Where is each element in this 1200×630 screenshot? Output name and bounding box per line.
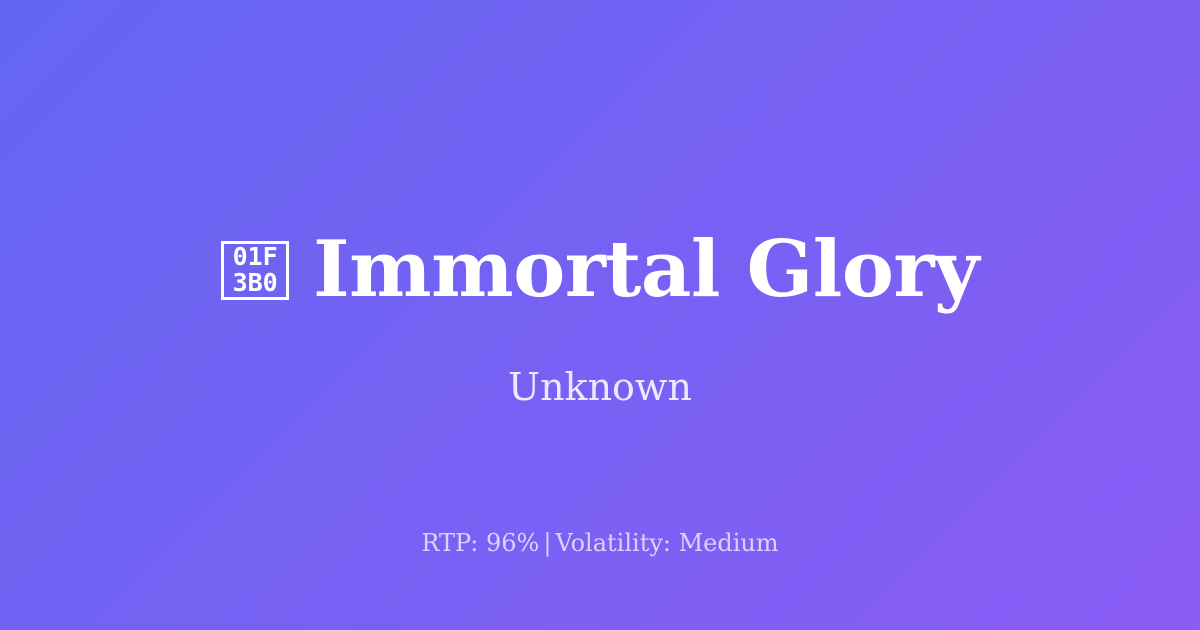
slot-machine-emoji-icon: 01F 3B0 [221, 241, 289, 300]
game-preview-card: 01F 3B0 Immortal Glory Unknown RTP: 96%|… [0, 0, 1200, 630]
game-stats-line: RTP: 96%|Volatility: Medium [0, 527, 1200, 559]
tofu-codepoint-row-bottom: 3B0 [233, 270, 278, 296]
rtp-stat: RTP: 96% [421, 529, 539, 557]
tofu-codepoint-row-top: 01F [233, 244, 278, 270]
stats-separator: | [539, 529, 555, 557]
volatility-stat: Volatility: Medium [555, 529, 778, 557]
game-title: Immortal Glory [313, 227, 979, 313]
title-row: 01F 3B0 Immortal Glory [0, 227, 1200, 313]
game-provider-label: Unknown [0, 363, 1200, 411]
